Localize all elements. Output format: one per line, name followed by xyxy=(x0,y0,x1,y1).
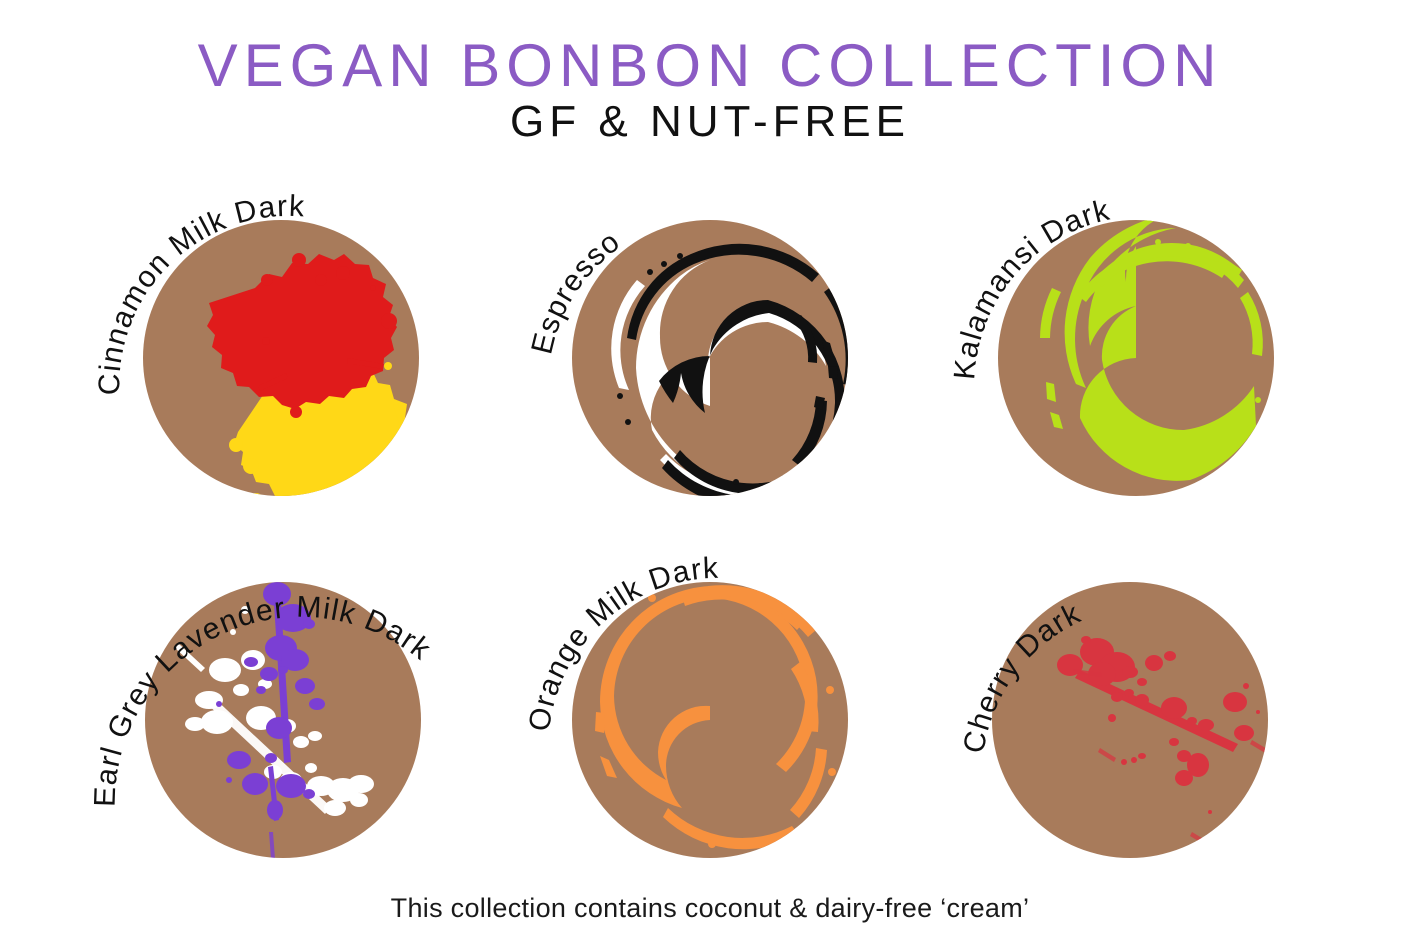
poster-canvas: VEGAN BONBON COLLECTION GF & NUT-FREE xyxy=(0,0,1420,947)
bonbon-earl-grey-lavender-milk-dark[interactable]: Earl Grey Lavender Milk Dark xyxy=(105,522,465,882)
bonbon-cherry-dark[interactable]: Cherry Dark xyxy=(952,522,1312,882)
bonbon-orange-milk-dark[interactable]: Orange Milk Dark xyxy=(532,522,892,882)
page-subtitle: GF & NUT-FREE xyxy=(0,100,1420,144)
page-title: VEGAN BONBON COLLECTION xyxy=(0,36,1420,96)
bonbon-espresso[interactable]: Espresso xyxy=(532,160,892,520)
bonbon-kalamansi-dark[interactable]: Kalamansi Dark xyxy=(958,160,1318,520)
footer-note: This collection contains coconut & dairy… xyxy=(0,893,1420,924)
bonbon-cinnamon-milk-dark[interactable]: Cinnamon Milk Dark xyxy=(103,160,463,520)
